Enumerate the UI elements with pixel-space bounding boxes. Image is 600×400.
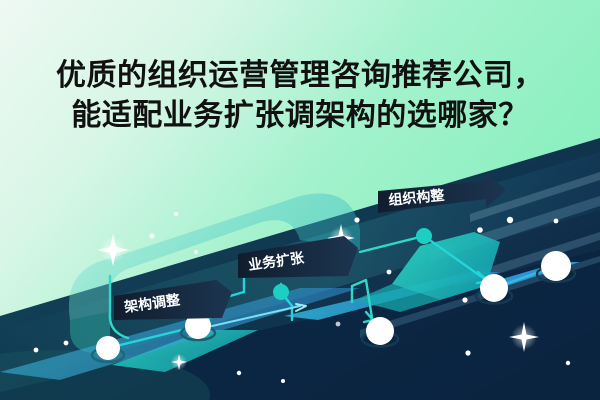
poster-canvas: 优质的组织运营管理咨询推荐公司， 能适配业务扩张调架构的选哪家？ [0, 0, 600, 400]
node-5[interactable] [416, 228, 432, 244]
node-4[interactable] [366, 317, 394, 345]
node-1[interactable] [96, 336, 120, 360]
node-6[interactable] [480, 274, 508, 302]
tag-structure-adjustment[interactable]: 架构调整 [114, 280, 232, 320]
tag-business-expansion[interactable]: 业务扩张 [238, 236, 358, 278]
flow-diagram: 组织构整 业务扩张 架构调整 [0, 0, 600, 400]
sparkle-3 [509, 322, 539, 352]
sparkle-4 [171, 354, 187, 370]
tag-org-restructure[interactable]: 组织构整 [378, 172, 506, 213]
node-7[interactable] [541, 251, 571, 281]
node-3[interactable] [273, 284, 289, 300]
